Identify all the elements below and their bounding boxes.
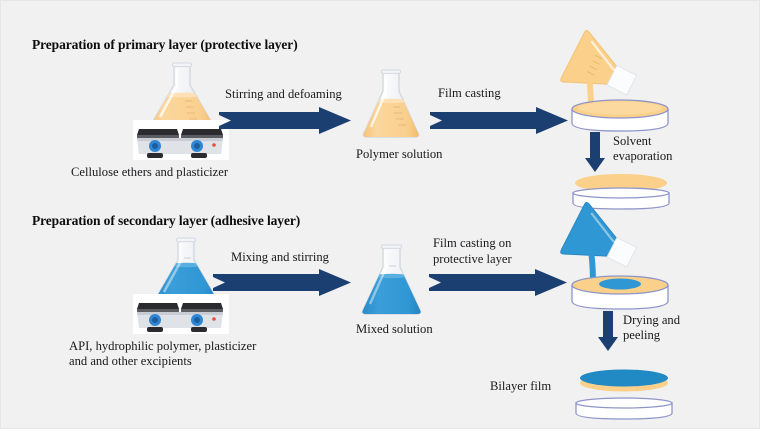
secondary-arrow2-label-line2: protective layer	[433, 252, 512, 267]
flask-blue-mixed	[356, 242, 428, 320]
primary-arrow1-label: Stirring and defoaming	[225, 87, 342, 102]
primary-vertical-label-line2: evaporation	[613, 149, 672, 164]
petri-dish-amber-fill	[568, 97, 672, 137]
secondary-arrow1	[213, 269, 351, 297]
secondary-vertical-arrow	[597, 311, 619, 351]
magnetic-stirrer-secondary	[133, 294, 229, 334]
magnetic-stirrer-icon	[133, 120, 229, 160]
petri-dish-icon	[568, 273, 672, 315]
secondary-middle-caption: Mixed solution	[356, 322, 433, 337]
secondary-section-heading: Preparation of secondary layer (adhesive…	[32, 213, 300, 229]
bilayer-film	[571, 365, 677, 423]
petri-dish-icon	[571, 365, 677, 423]
primary-section-heading: Preparation of primary layer (protective…	[32, 37, 298, 53]
magnetic-stirrer-icon	[133, 294, 229, 334]
arrow-down-icon	[597, 311, 619, 351]
secondary-arrow2-label-line1: Film casting on	[433, 236, 511, 251]
secondary-vertical-label-line2: peeling	[623, 328, 660, 343]
arrow-right-icon	[219, 107, 351, 135]
arrow-right-icon	[213, 269, 351, 297]
magnetic-stirrer-primary	[133, 120, 229, 160]
primary-arrow2-label: Film casting	[438, 86, 501, 101]
petri-dish-bilayer-cast	[568, 273, 672, 315]
primary-vertical-arrow	[584, 132, 606, 172]
bilayer-film-caption: Bilayer film	[490, 379, 551, 394]
primary-arrow1	[219, 107, 351, 135]
petri-dish-icon	[568, 97, 672, 137]
primary-start-caption: Cellulose ethers and plasticizer	[71, 165, 228, 180]
secondary-start-caption-line1: API, hydrophilic polymer, plasticizer	[69, 339, 256, 354]
arrow-down-icon	[584, 132, 606, 172]
primary-vertical-label-line1: Solvent	[613, 134, 651, 149]
primary-middle-caption: Polymer solution	[356, 147, 442, 162]
flask-amber-polymer	[357, 67, 425, 143]
erlenmeyer-flask-blue-icon	[356, 242, 428, 320]
secondary-arrow1-label: Mixing and stirring	[231, 250, 329, 265]
secondary-vertical-label-line1: Drying and	[623, 313, 680, 328]
figure-canvas: Preparation of primary layer (protective…	[0, 0, 760, 429]
erlenmeyer-flask-amber-icon	[357, 67, 425, 143]
secondary-start-caption-line2: and and other excipients	[69, 354, 192, 369]
